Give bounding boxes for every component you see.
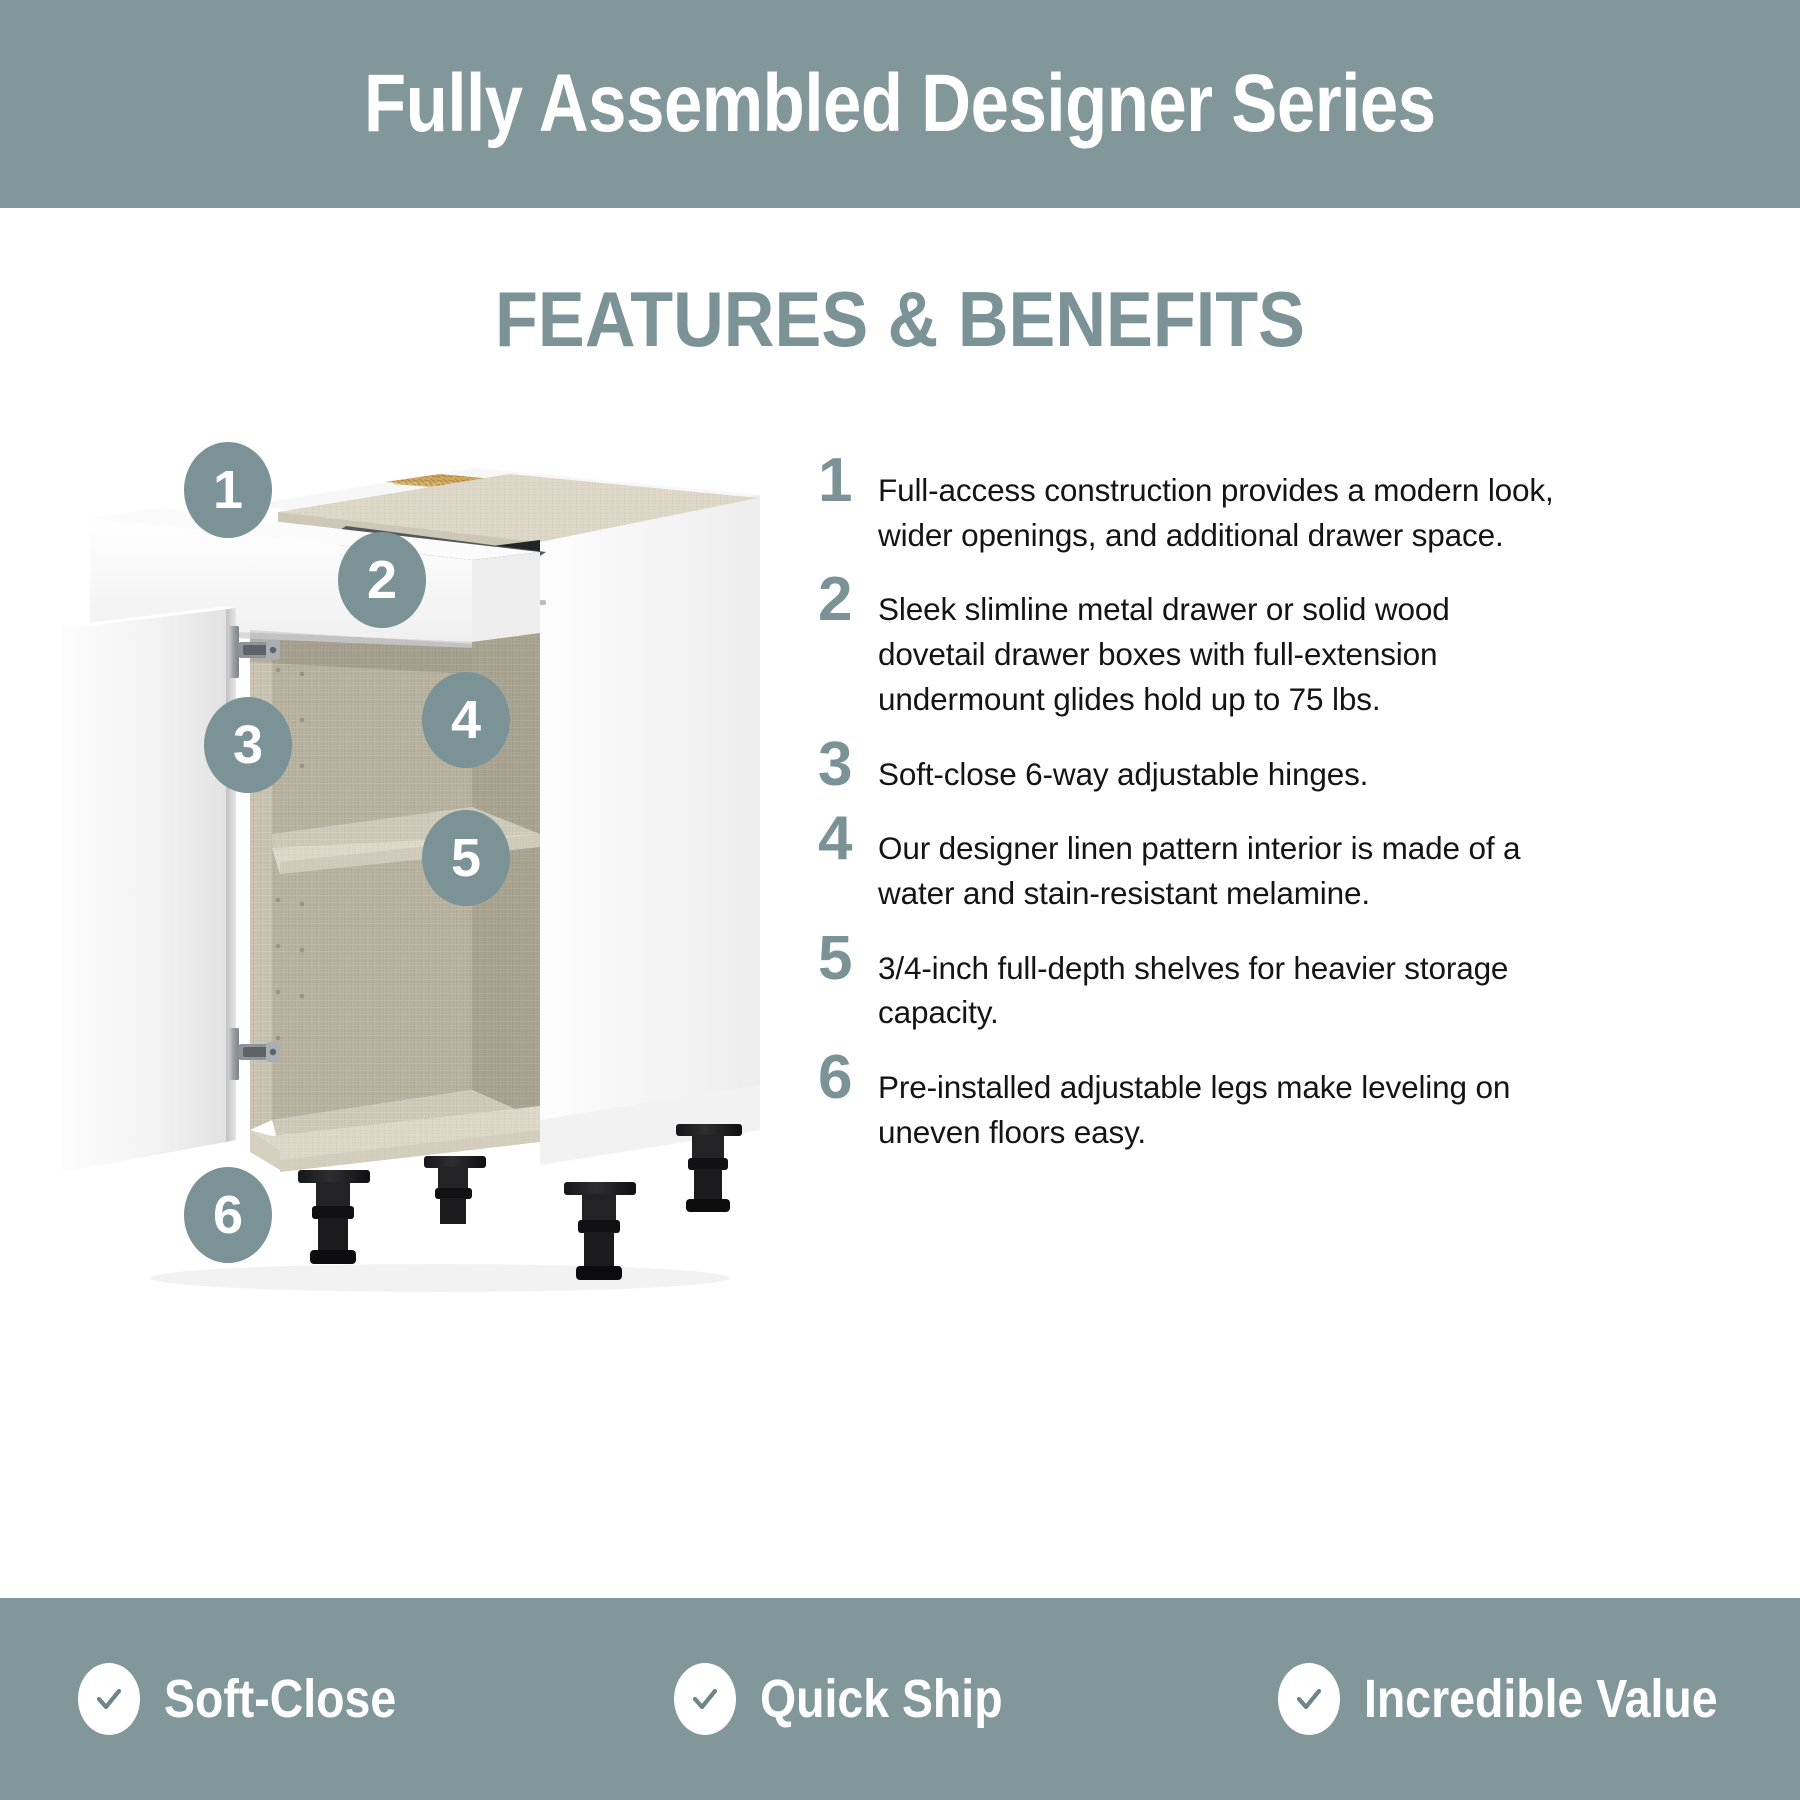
cabinet-door-panel — [62, 606, 226, 1172]
product-illustration: 1 2 3 4 5 — [40, 430, 800, 1310]
callout-badge-3-label: 3 — [233, 715, 263, 775]
callout-badge-6[interactable]: 6 — [184, 1167, 272, 1263]
callout-badge-2-label: 2 — [367, 550, 397, 610]
footer-item-soft-close: Soft-Close — [0, 1663, 600, 1735]
page-title: Fully Assembled Designer Series — [364, 63, 1436, 145]
callout-badge-1[interactable]: 1 — [184, 442, 272, 538]
callout-badge-1-label: 1 — [213, 460, 243, 520]
feature-number-3: 3 — [800, 736, 878, 793]
ground-shadow — [150, 1264, 730, 1292]
footer-item-incredible-value: Incredible Value — [1196, 1663, 1800, 1735]
adjustable-leg-3 — [564, 1182, 636, 1280]
callout-badge-4-label: 4 — [451, 690, 481, 750]
footer-band: Soft-Close Quick Ship Incredible Value — [0, 1598, 1800, 1800]
feature-number-6: 6 — [800, 1049, 878, 1106]
callout-badge-6-label: 6 — [213, 1185, 243, 1245]
feature-item-5: 5 3/4-inch full-depth shelves for heavie… — [800, 930, 1560, 1035]
feature-item-1: 1 Full-access construction provides a mo… — [800, 452, 1560, 557]
cabinet-svg: 1 2 3 4 5 — [40, 430, 800, 1310]
feature-item-2: 2 Sleek slimline metal drawer or solid w… — [800, 571, 1560, 721]
feature-number-2: 2 — [800, 571, 878, 628]
feature-text-1: Full-access construction provides a mode… — [878, 452, 1560, 557]
footer-label-soft-close: Soft-Close — [164, 1672, 396, 1726]
feature-text-6: Pre-installed adjustable legs make level… — [878, 1049, 1560, 1154]
check-circle-icon — [1278, 1663, 1340, 1735]
drawer-front-right-edge — [472, 552, 540, 642]
feature-text-2: Sleek slimline metal drawer or solid woo… — [878, 571, 1560, 721]
adjustable-leg-1 — [298, 1170, 370, 1264]
callout-badge-5-label: 5 — [451, 828, 481, 888]
section-title: FEATURES & BENEFITS — [90, 280, 1710, 358]
header-band: Fully Assembled Designer Series — [0, 0, 1800, 208]
feature-item-6: 6 Pre-installed adjustable legs make lev… — [800, 1049, 1560, 1154]
callout-badge-5[interactable]: 5 — [422, 810, 510, 906]
cabinet-right-side-panel — [540, 495, 760, 1165]
footer-item-quick-ship: Quick Ship — [600, 1663, 1196, 1735]
feature-number-1: 1 — [800, 452, 878, 509]
adjustable-leg-2 — [424, 1156, 486, 1224]
callout-badge-3[interactable]: 3 — [204, 697, 292, 793]
feature-item-4: 4 Our designer linen pattern interior is… — [800, 810, 1560, 915]
callout-badge-4[interactable]: 4 — [422, 672, 510, 768]
feature-number-4: 4 — [800, 810, 878, 867]
footer-label-quick-ship: Quick Ship — [760, 1672, 1003, 1726]
footer-label-incredible-value: Incredible Value — [1364, 1672, 1718, 1726]
check-circle-icon — [674, 1663, 736, 1735]
feature-number-5: 5 — [800, 930, 878, 987]
infographic-page: Fully Assembled Designer Series FEATURES… — [0, 0, 1800, 1800]
callout-badge-2[interactable]: 2 — [338, 532, 426, 628]
feature-text-3: Soft-close 6-way adjustable hinges. — [878, 736, 1560, 797]
feature-text-4: Our designer linen pattern interior is m… — [878, 810, 1560, 915]
feature-item-3: 3 Soft-close 6-way adjustable hinges. — [800, 736, 1560, 797]
check-circle-icon — [78, 1663, 140, 1735]
feature-text-5: 3/4-inch full-depth shelves for heavier … — [878, 930, 1560, 1035]
features-list: 1 Full-access construction provides a mo… — [800, 452, 1560, 1169]
